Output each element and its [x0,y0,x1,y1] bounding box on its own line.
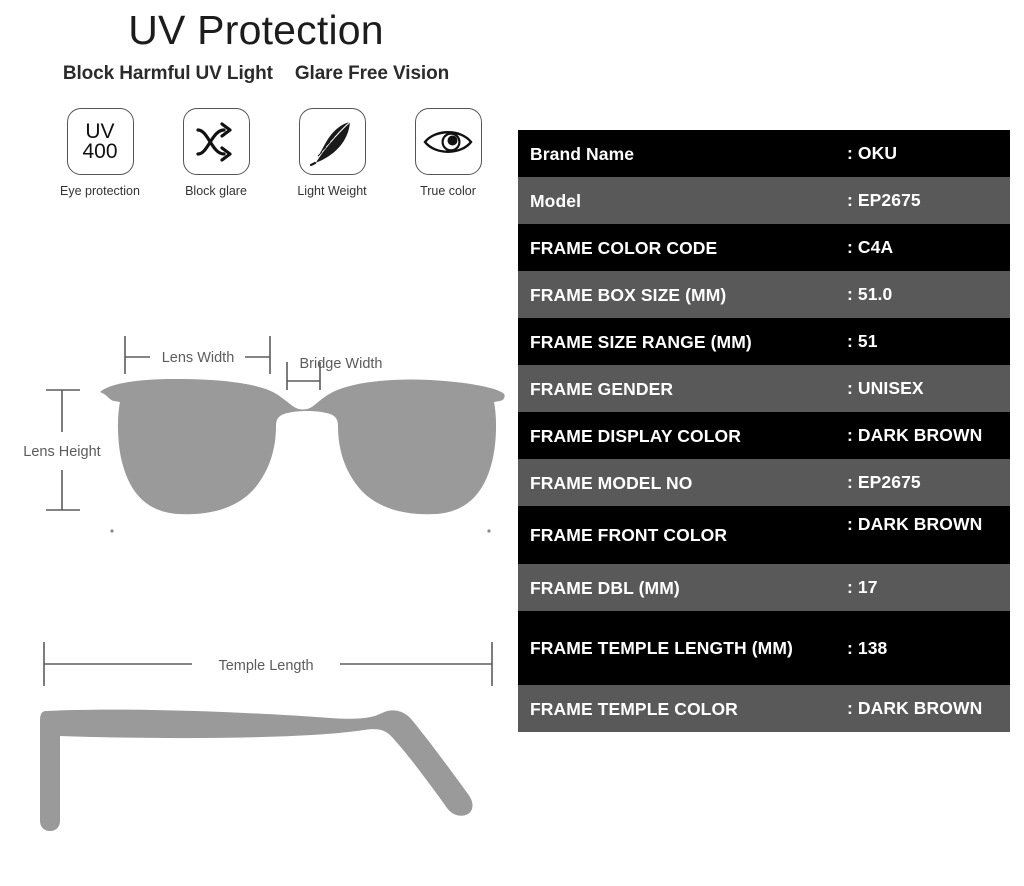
shuffle-arrows-icon [183,108,250,175]
spec-value: : C4A [847,224,1010,271]
table-row: FRAME DISPLAY COLOR : DARK BROWN [518,412,1010,459]
temple-diagram: Temple Length [0,624,512,869]
feature-label-light-weight: Light Weight [297,184,366,198]
product-spec-page: UV Protection Block Harmful UV Light Gla… [0,0,1024,886]
feather-icon [299,108,366,175]
table-row: FRAME FRONT COLOR : DARK BROWN [518,506,1010,564]
table-row: FRAME SIZE RANGE (MM) : 51 [518,318,1010,365]
table-row: FRAME BOX SIZE (MM) : 51.0 [518,271,1010,318]
feature-eye-protection: UV 400 Eye protection [48,108,152,198]
spec-value: : UNISEX [847,365,1010,412]
feature-label-true-color: True color [420,184,476,198]
page-title: UV Protection [0,4,512,56]
table-row: FRAME COLOR CODE : C4A [518,224,1010,271]
table-row: FRAME MODEL NO : EP2675 [518,459,1010,506]
spec-key: FRAME BOX SIZE (MM) [518,271,847,318]
uv-protection-panel: UV Protection Block Harmful UV Light Gla… [0,0,512,886]
lens-height-label: Lens Height [23,444,100,460]
lens-width-label: Lens Width [162,350,235,366]
spec-key: FRAME COLOR CODE [518,224,847,271]
spec-key: FRAME DBL (MM) [518,564,847,611]
uv400-icon: UV 400 [67,108,134,175]
spec-key: FRAME SIZE RANGE (MM) [518,318,847,365]
table-row: Brand Name : OKU [518,130,1010,177]
glasses-frame-shape [100,379,505,533]
temple-length-label: Temple Length [218,658,313,674]
feature-light-weight: Light Weight [280,108,384,198]
spec-value: : DARK BROWN [847,506,1010,564]
table-row: FRAME TEMPLE LENGTH (MM) : 138 [518,611,1010,685]
spec-value: : 138 [847,611,1010,685]
feature-icon-row: UV 400 Eye protection [48,108,500,198]
table-row: Model : EP2675 [518,177,1010,224]
banner-subtitles: Block Harmful UV Light Glare Free Vision [0,63,512,85]
feature-label-block-glare: Block glare [185,184,247,198]
spec-value: : DARK BROWN [847,412,1010,459]
subtitle-glare-free: Glare Free Vision [295,63,449,85]
spec-key: FRAME TEMPLE LENGTH (MM) [518,611,847,685]
product-spec-table: Brand Name : OKU Model : EP2675 FRAME CO… [518,130,1010,732]
spec-table-body: Brand Name : OKU Model : EP2675 FRAME CO… [518,130,1010,732]
spec-key: FRAME MODEL NO [518,459,847,506]
subtitle-block-uv: Block Harmful UV Light [63,63,273,85]
feature-true-color: True color [396,108,500,198]
spec-value: : DARK BROWN [847,685,1010,732]
eye-icon [415,108,482,175]
bridge-width-label: Bridge Width [299,356,382,372]
table-row: FRAME TEMPLE COLOR : DARK BROWN [518,685,1010,732]
spec-key: FRAME DISPLAY COLOR [518,412,847,459]
table-row: FRAME DBL (MM) : 17 [518,564,1010,611]
feature-label-eye-protection: Eye protection [60,184,140,198]
uv400-icon-line2: 400 [82,142,117,162]
spec-key: Model [518,177,847,224]
spec-key: FRAME FRONT COLOR [518,506,847,564]
spec-value: : 51.0 [847,271,1010,318]
spec-value: : EP2675 [847,459,1010,506]
glasses-front-diagram: Lens Width Bridge Width Lens Height [0,322,512,572]
spec-value: : 17 [847,564,1010,611]
temple-shape [40,710,473,831]
feature-block-glare: Block glare [164,108,268,198]
uv400-icon-line1: UV [82,122,117,142]
table-row: FRAME GENDER : UNISEX [518,365,1010,412]
spec-key: FRAME TEMPLE COLOR [518,685,847,732]
spec-key: FRAME GENDER [518,365,847,412]
spec-value: : EP2675 [847,177,1010,224]
spec-key: Brand Name [518,130,847,177]
spec-value: : 51 [847,318,1010,365]
spec-value: : OKU [847,130,1010,177]
